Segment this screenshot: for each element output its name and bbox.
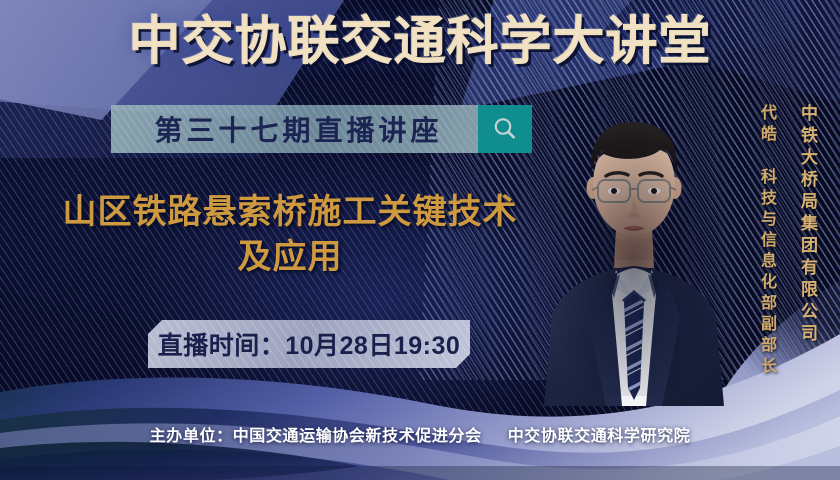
episode-badge-body: 第三十七期直播讲座 bbox=[111, 105, 478, 153]
search-button[interactable] bbox=[478, 105, 532, 153]
page-title: 中交协联交通科学大讲堂 bbox=[0, 16, 840, 68]
speaker-organization: 中铁大桥局集团有限公司 bbox=[795, 104, 820, 346]
broadcast-time-text: 直播时间：10月28日19:30 bbox=[158, 326, 461, 362]
lecture-title-line-2: 及应用 bbox=[20, 235, 560, 280]
speaker-name-and-role: 代皓 科技与信息化部副部长 bbox=[754, 104, 778, 378]
lecture-title: 山区铁路悬索桥施工关键技术 及应用 bbox=[20, 190, 560, 280]
broadcast-time-badge: 直播时间：10月28日19:30 bbox=[148, 320, 470, 368]
episode-label: 第三十七期直播讲座 bbox=[146, 109, 442, 149]
lecture-title-line-1: 山区铁路悬索桥施工关键技术 bbox=[20, 190, 560, 235]
footer-organizer-2: 中交协联交通科学研究院 bbox=[508, 428, 691, 445]
portrait-shadow bbox=[544, 96, 724, 396]
footer-prefix: 主办单位： bbox=[150, 428, 233, 445]
footer-organizers: 主办单位：中国交通运输协会新技术促进分会中交协联交通科学研究院 bbox=[0, 422, 840, 446]
footer-organizer-1: 中国交通运输协会新技术促进分会 bbox=[233, 428, 482, 445]
episode-badge: 第三十七期直播讲座 bbox=[111, 105, 532, 153]
search-icon bbox=[490, 114, 520, 144]
webinar-poster: 中交协联交通科学大讲堂 第三十七期直播讲座 山区铁路悬索桥施工关键技术 及应用 … bbox=[0, 0, 840, 480]
speaker-portrait bbox=[536, 88, 732, 406]
